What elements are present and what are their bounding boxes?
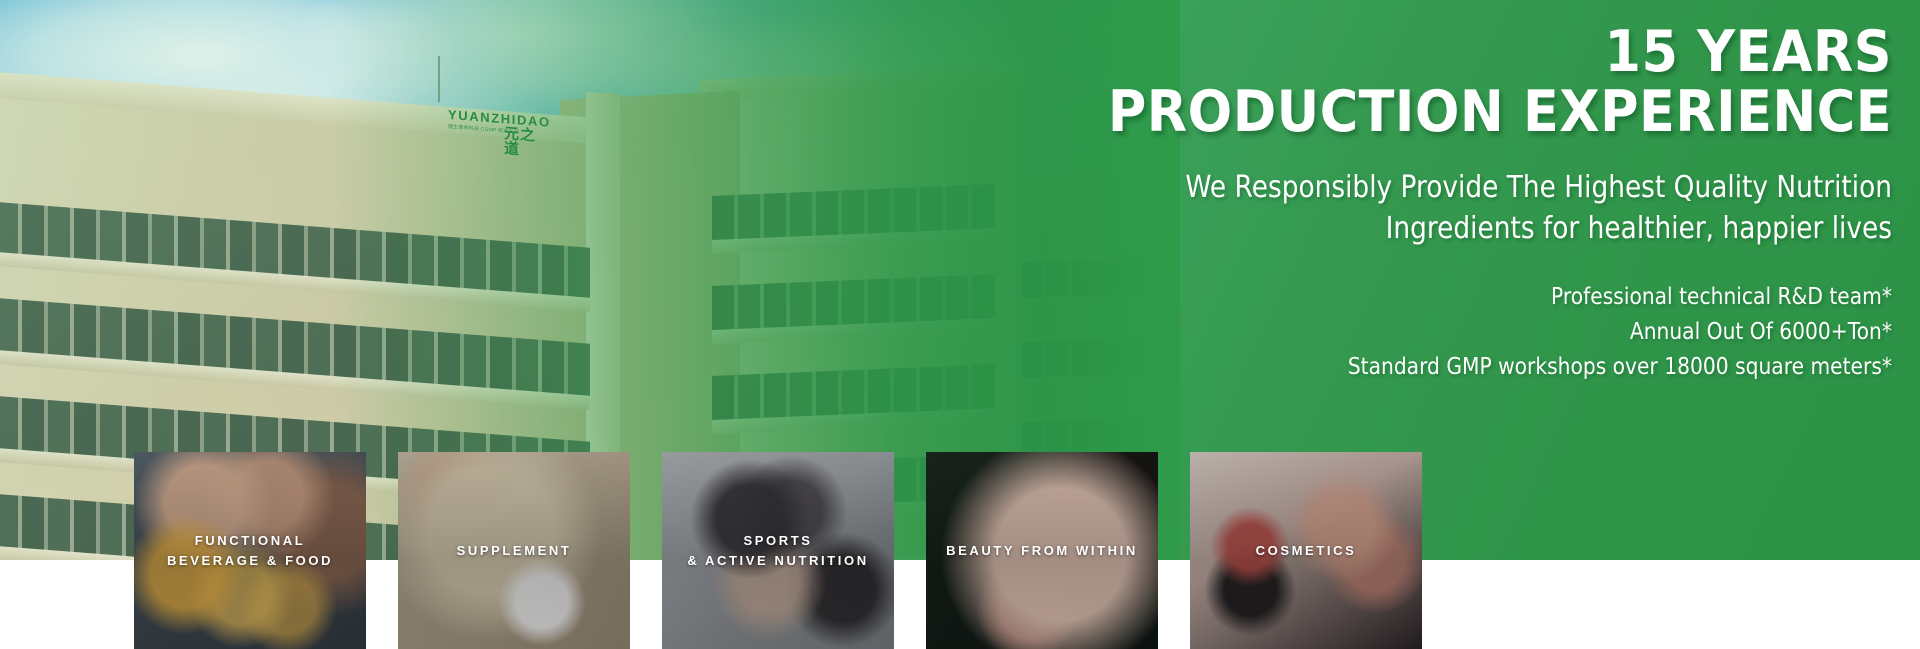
category-caption: FUNCTIONAL BEVERAGE & FOOD	[134, 530, 366, 570]
detail-line-2: Annual Out Of 6000+Ton*	[959, 315, 1892, 350]
category-caption: SUPPLEMENT	[398, 540, 630, 560]
category-card-beauty-from-within[interactable]: BEAUTY FROM WITHIN	[926, 452, 1158, 649]
category-caption: COSMETICS	[1190, 540, 1422, 560]
detail-line-1: Professional technical R&D team*	[959, 280, 1892, 315]
category-card-cosmetics[interactable]: COSMETICS	[1190, 452, 1422, 649]
category-card-list: FUNCTIONAL BEVERAGE & FOOD SUPPLEMENT SP…	[0, 452, 1920, 649]
category-label-line-1: SPORTS	[670, 530, 886, 550]
detail-line-3: Standard GMP workshops over 18000 square…	[959, 350, 1892, 385]
category-label-line-2: & ACTIVE NUTRITION	[670, 551, 886, 571]
banner-headline: 15 YEARS PRODUCTION EXPERIENCE	[917, 22, 1892, 143]
category-caption: BEAUTY FROM WITHIN	[926, 540, 1158, 560]
category-label-line-2: BEVERAGE & FOOD	[142, 551, 358, 571]
banner-detail-list: Professional technical R&D team* Annual …	[959, 280, 1892, 385]
banner-copy: 15 YEARS PRODUCTION EXPERIENCE We Respon…	[832, 0, 1892, 384]
category-label-line-1: SUPPLEMENT	[406, 540, 622, 560]
category-label-line-1: BEAUTY FROM WITHIN	[934, 540, 1150, 560]
category-card-sports-active-nutrition[interactable]: SPORTS & ACTIVE NUTRITION	[662, 452, 894, 649]
headline-line-2: PRODUCTION EXPERIENCE	[917, 82, 1892, 142]
category-label-line-1: FUNCTIONAL	[142, 530, 358, 550]
banner-subheading: We Responsibly Provide The Highest Quali…	[959, 167, 1892, 250]
hero-banner: YUANZHIDAO 健生营养科技 CGMP 标准车间 元之道 15 YEARS…	[0, 0, 1920, 649]
category-caption: SPORTS & ACTIVE NUTRITION	[662, 530, 894, 570]
category-card-functional-beverage-food[interactable]: FUNCTIONAL BEVERAGE & FOOD	[134, 452, 366, 649]
category-label-line-1: COSMETICS	[1198, 540, 1414, 560]
category-card-supplement[interactable]: SUPPLEMENT	[398, 452, 630, 649]
headline-line-1: 15 YEARS	[1605, 19, 1892, 85]
subheading-line-2: Ingredients for healthier, happier lives	[959, 208, 1892, 249]
subheading-line-1: We Responsibly Provide The Highest Quali…	[959, 167, 1892, 208]
